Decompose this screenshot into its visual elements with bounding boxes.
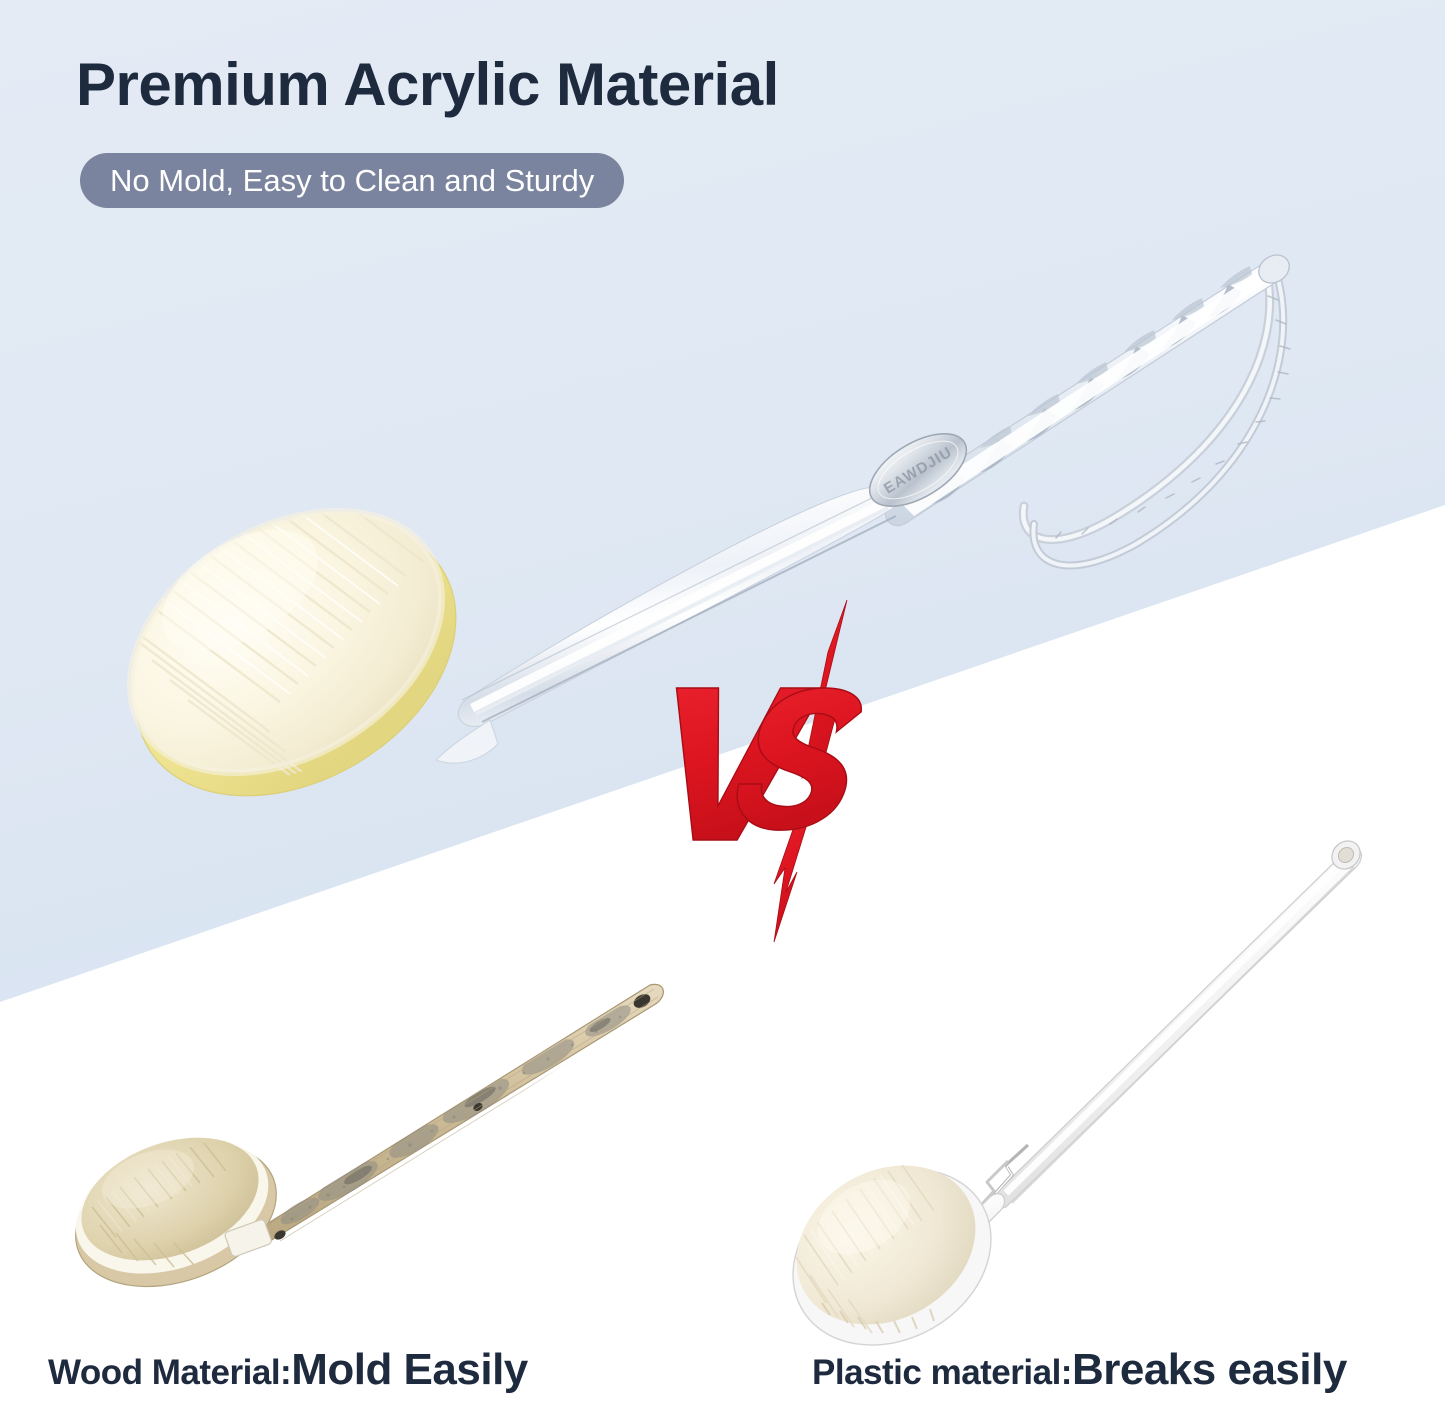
page-title: Premium Acrylic Material bbox=[76, 50, 779, 119]
plastic-back-brush bbox=[760, 805, 1410, 1325]
infographic-poster: EAWDJIU bbox=[0, 0, 1445, 1403]
caption-plastic: Plastic material: Breaks easily bbox=[812, 1345, 1347, 1395]
bristle-head bbox=[83, 120, 505, 851]
moldy-wood-handle bbox=[259, 984, 663, 1241]
subtitle-pill: No Mold, Easy to Clean and Sturdy bbox=[80, 153, 624, 208]
head-neck bbox=[436, 720, 498, 763]
caption-wood: Wood Material: Mold Easily bbox=[48, 1345, 528, 1395]
caption-plastic-value: Breaks easily bbox=[1072, 1345, 1347, 1395]
white-handle bbox=[994, 848, 1361, 1208]
faceted-grip bbox=[885, 249, 1294, 525]
cream-bristle-head bbox=[768, 1134, 1005, 1356]
wood-back-brush bbox=[48, 975, 708, 1305]
caption-plastic-label: Plastic material: bbox=[812, 1353, 1072, 1393]
caption-wood-value: Mold Easily bbox=[291, 1345, 528, 1395]
caption-wood-label: Wood Material: bbox=[48, 1353, 291, 1393]
